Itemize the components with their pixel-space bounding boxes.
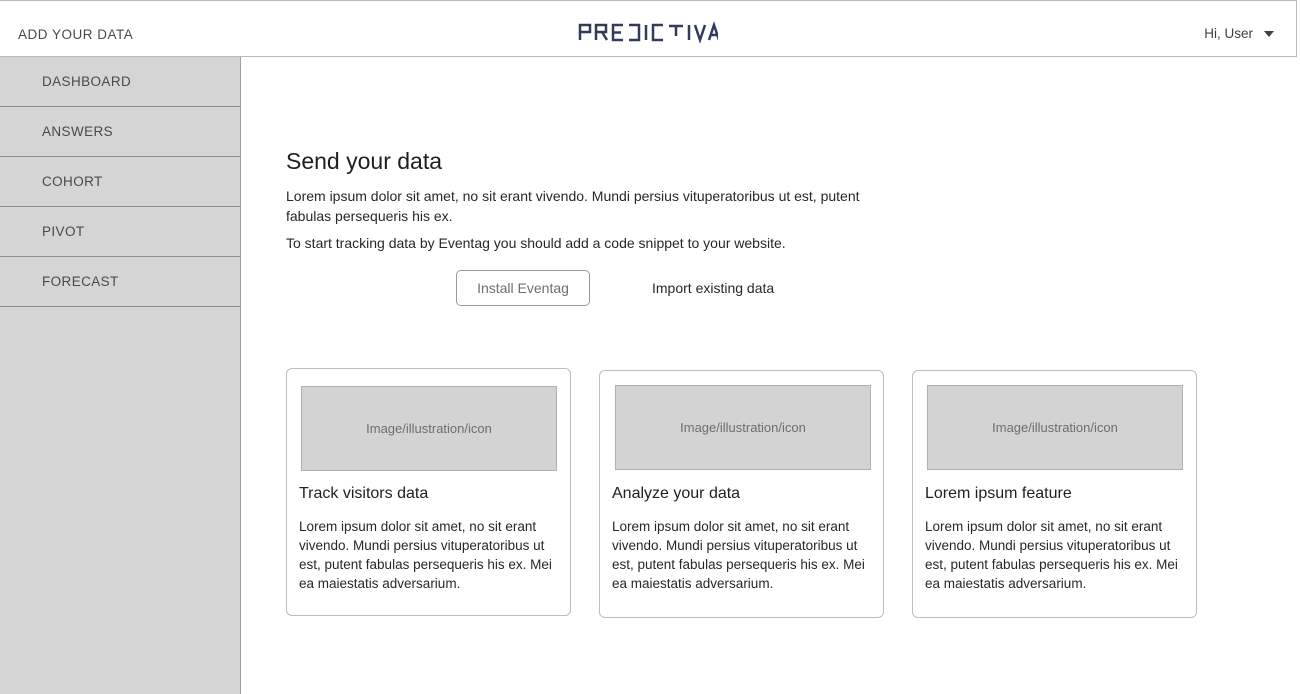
sidebar-item-forecast[interactable]: FORECAST (0, 257, 240, 307)
user-menu[interactable]: Hi, User (1204, 26, 1274, 41)
image-placeholder: Image/illustration/icon (615, 385, 871, 470)
feature-card-list: Image/illustration/icon Track visitors d… (286, 368, 1241, 618)
send-data-paragraph-2: To start tracking data by Eventag you sh… (286, 233, 906, 253)
sidebar-item-label: FORECAST (42, 274, 119, 289)
sidebar-item-answers[interactable]: ANSWERS (0, 107, 240, 157)
feature-card-body: Lorem ipsum dolor sit amet, no sit erant… (925, 517, 1185, 593)
feature-card-title: Analyze your data (612, 485, 740, 503)
image-placeholder-label: Image/illustration/icon (992, 420, 1118, 435)
sidebar-item-label: ANSWERS (42, 124, 113, 139)
feature-card-body: Lorem ipsum dolor sit amet, no sit erant… (612, 517, 872, 593)
sidebar-item-cohort[interactable]: COHORT (0, 157, 240, 207)
send-data-paragraph-1: Lorem ipsum dolor sit amet, no sit erant… (286, 186, 886, 226)
install-eventag-button[interactable]: Install Eventag (456, 270, 590, 306)
image-placeholder-label: Image/illustration/icon (680, 420, 806, 435)
image-placeholder: Image/illustration/icon (927, 385, 1183, 470)
user-menu-label: Hi, User (1204, 26, 1253, 41)
feature-card[interactable]: Image/illustration/icon Track visitors d… (286, 368, 571, 616)
sidebar-item-pivot[interactable]: PIVOT (0, 207, 240, 257)
feature-card[interactable]: Image/illustration/icon Analyze your dat… (599, 370, 884, 618)
feature-card-title: Lorem ipsum feature (925, 485, 1072, 503)
send-data-actions: Install Eventag Import existing data (286, 270, 774, 306)
feature-card-body: Lorem ipsum dolor sit amet, no sit erant… (299, 517, 559, 593)
sidebar-empty-area (0, 307, 240, 357)
predictiva-logo (0, 21, 1296, 43)
header-page-label: ADD YOUR DATA (18, 27, 133, 42)
chevron-down-icon (1264, 31, 1274, 37)
send-data-title: Send your data (286, 148, 442, 175)
sidebar-nav: DASHBOARD ANSWERS COHORT PIVOT FORECAST (0, 57, 241, 694)
image-placeholder: Image/illustration/icon (301, 386, 557, 471)
sidebar-item-label: PIVOT (42, 224, 85, 239)
main-content: Send your data Lorem ipsum dolor sit ame… (242, 58, 1300, 694)
app-header: ADD YOUR DATA (0, 0, 1297, 57)
sidebar-item-dashboard[interactable]: DASHBOARD (0, 57, 240, 107)
image-placeholder-label: Image/illustration/icon (366, 421, 492, 436)
sidebar-item-label: DASHBOARD (42, 74, 131, 89)
feature-card[interactable]: Image/illustration/icon Lorem ipsum feat… (912, 370, 1197, 618)
sidebar-item-label: COHORT (42, 174, 103, 189)
import-existing-data-link[interactable]: Import existing data (652, 280, 774, 296)
feature-card-title: Track visitors data (299, 485, 428, 503)
